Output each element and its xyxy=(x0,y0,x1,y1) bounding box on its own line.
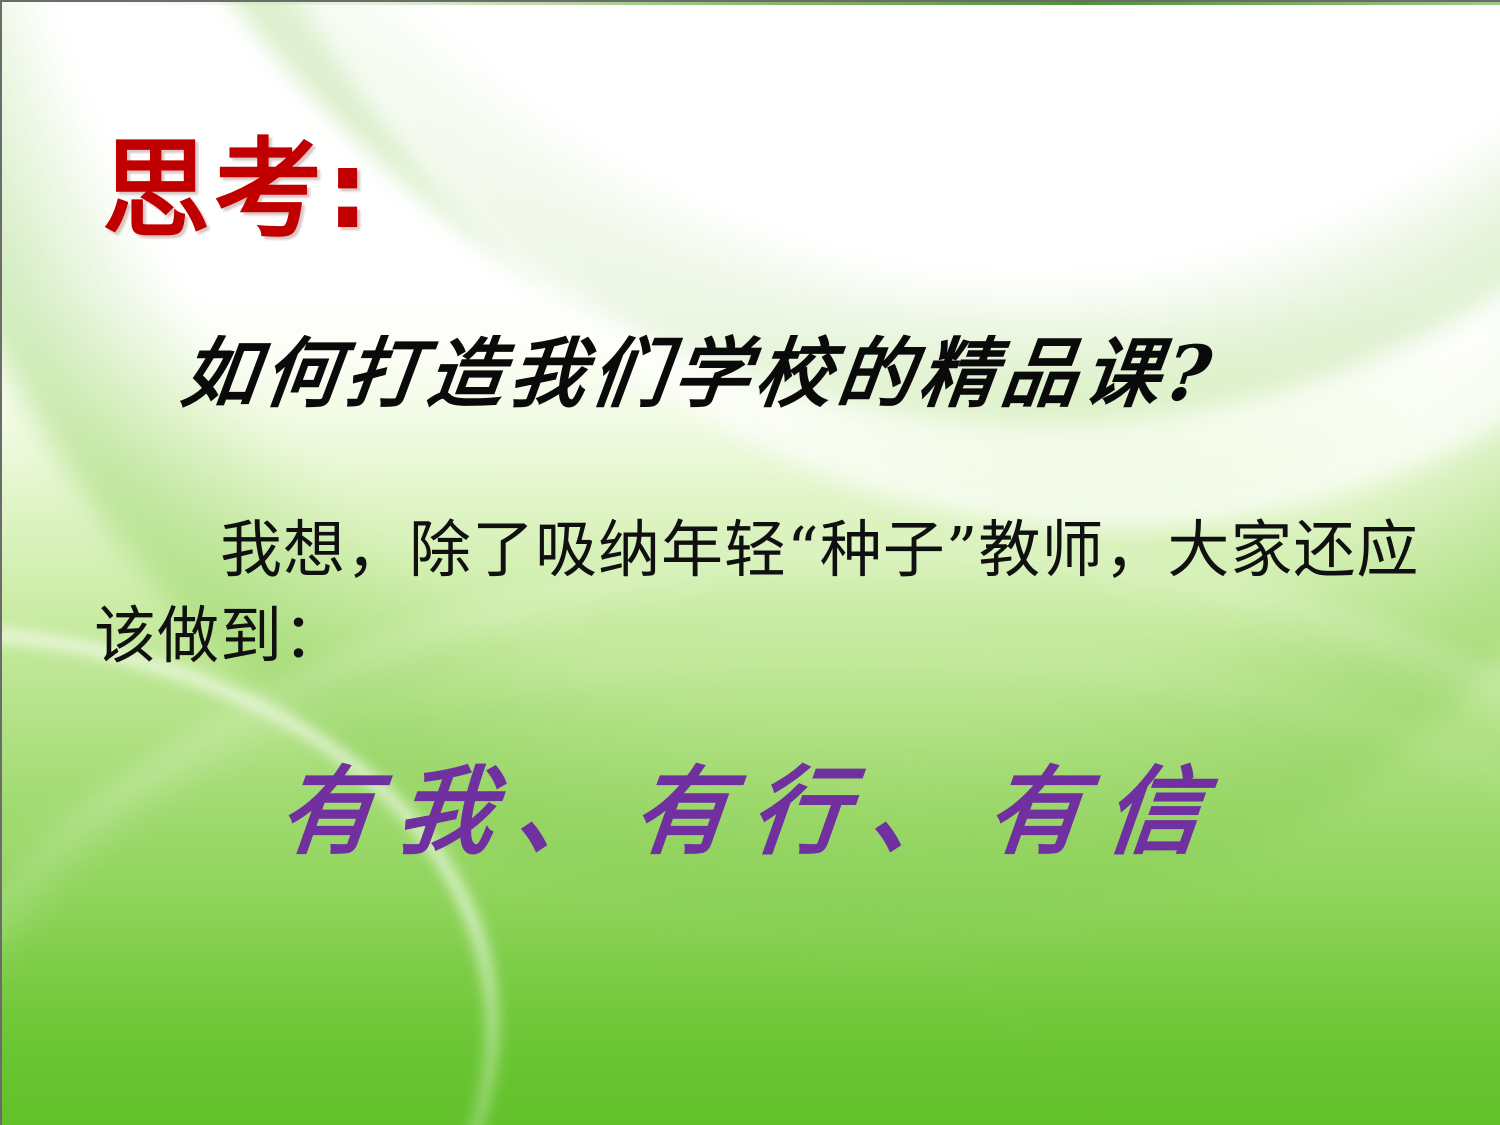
body-line-1: 我想，除了吸纳年轻“种子”教师，大 xyxy=(220,513,1230,586)
slide-content: 思考: 如何打造我们学校的精品课? 我想，除了吸纳年轻“种子”教师，大家还应该做… xyxy=(2,2,1500,1125)
slide-heading: 思考: xyxy=(102,134,373,247)
slide-body-paragraph: 我想，除了吸纳年轻“种子”教师，大家还应该做到： xyxy=(94,507,1424,678)
slide-slogan: 有我、有行、有信 xyxy=(0,757,1500,867)
presentation-slide: 思考: 如何打造我们学校的精品课? 我想，除了吸纳年轻“种子”教师，大家还应该做… xyxy=(0,0,1500,1125)
slide-subheading-question: 如何打造我们学校的精品课? xyxy=(177,332,1387,416)
